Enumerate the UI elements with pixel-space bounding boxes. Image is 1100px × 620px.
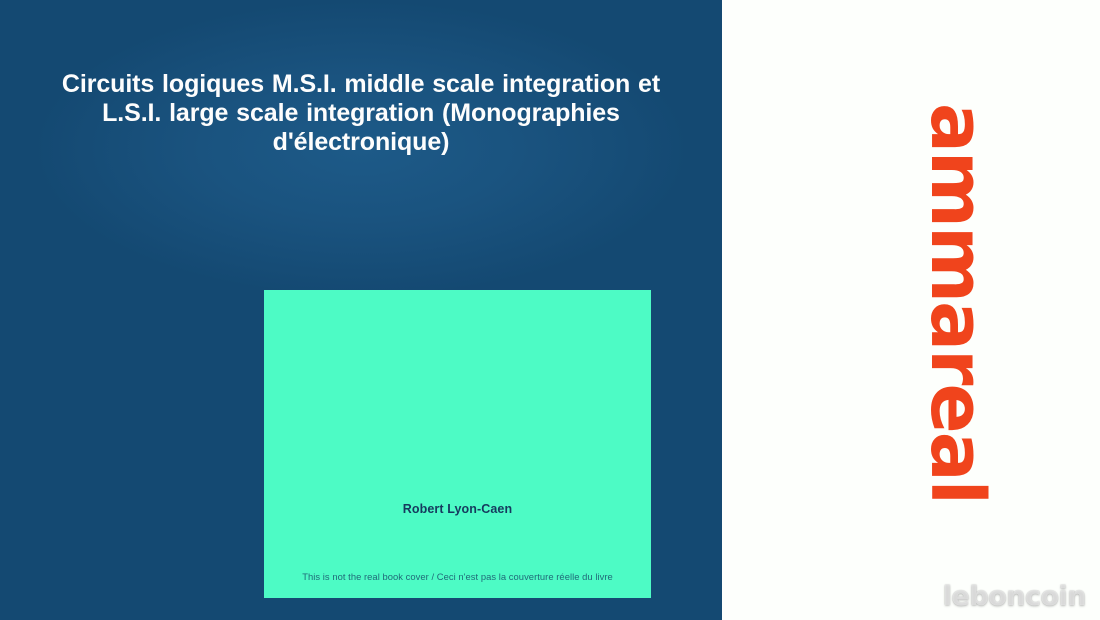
book-title: Circuits logiques M.S.I. middle scale in… [0,70,722,157]
book-cover-card: Robert Lyon-Caen This is not the real bo… [264,290,651,598]
cover-disclaimer-text: This is not the real book cover / Ceci n… [264,571,651,582]
seller-brand-panel: ammareal leboncoin [722,0,1100,620]
product-image-viewer: Circuits logiques M.S.I. middle scale in… [0,0,1100,620]
book-cover-panel[interactable]: Circuits logiques M.S.I. middle scale in… [0,0,722,620]
book-author: Robert Lyon-Caen [264,502,651,516]
leboncoin-watermark: leboncoin [943,581,1086,612]
ammareal-wordmark: ammareal [920,103,994,503]
